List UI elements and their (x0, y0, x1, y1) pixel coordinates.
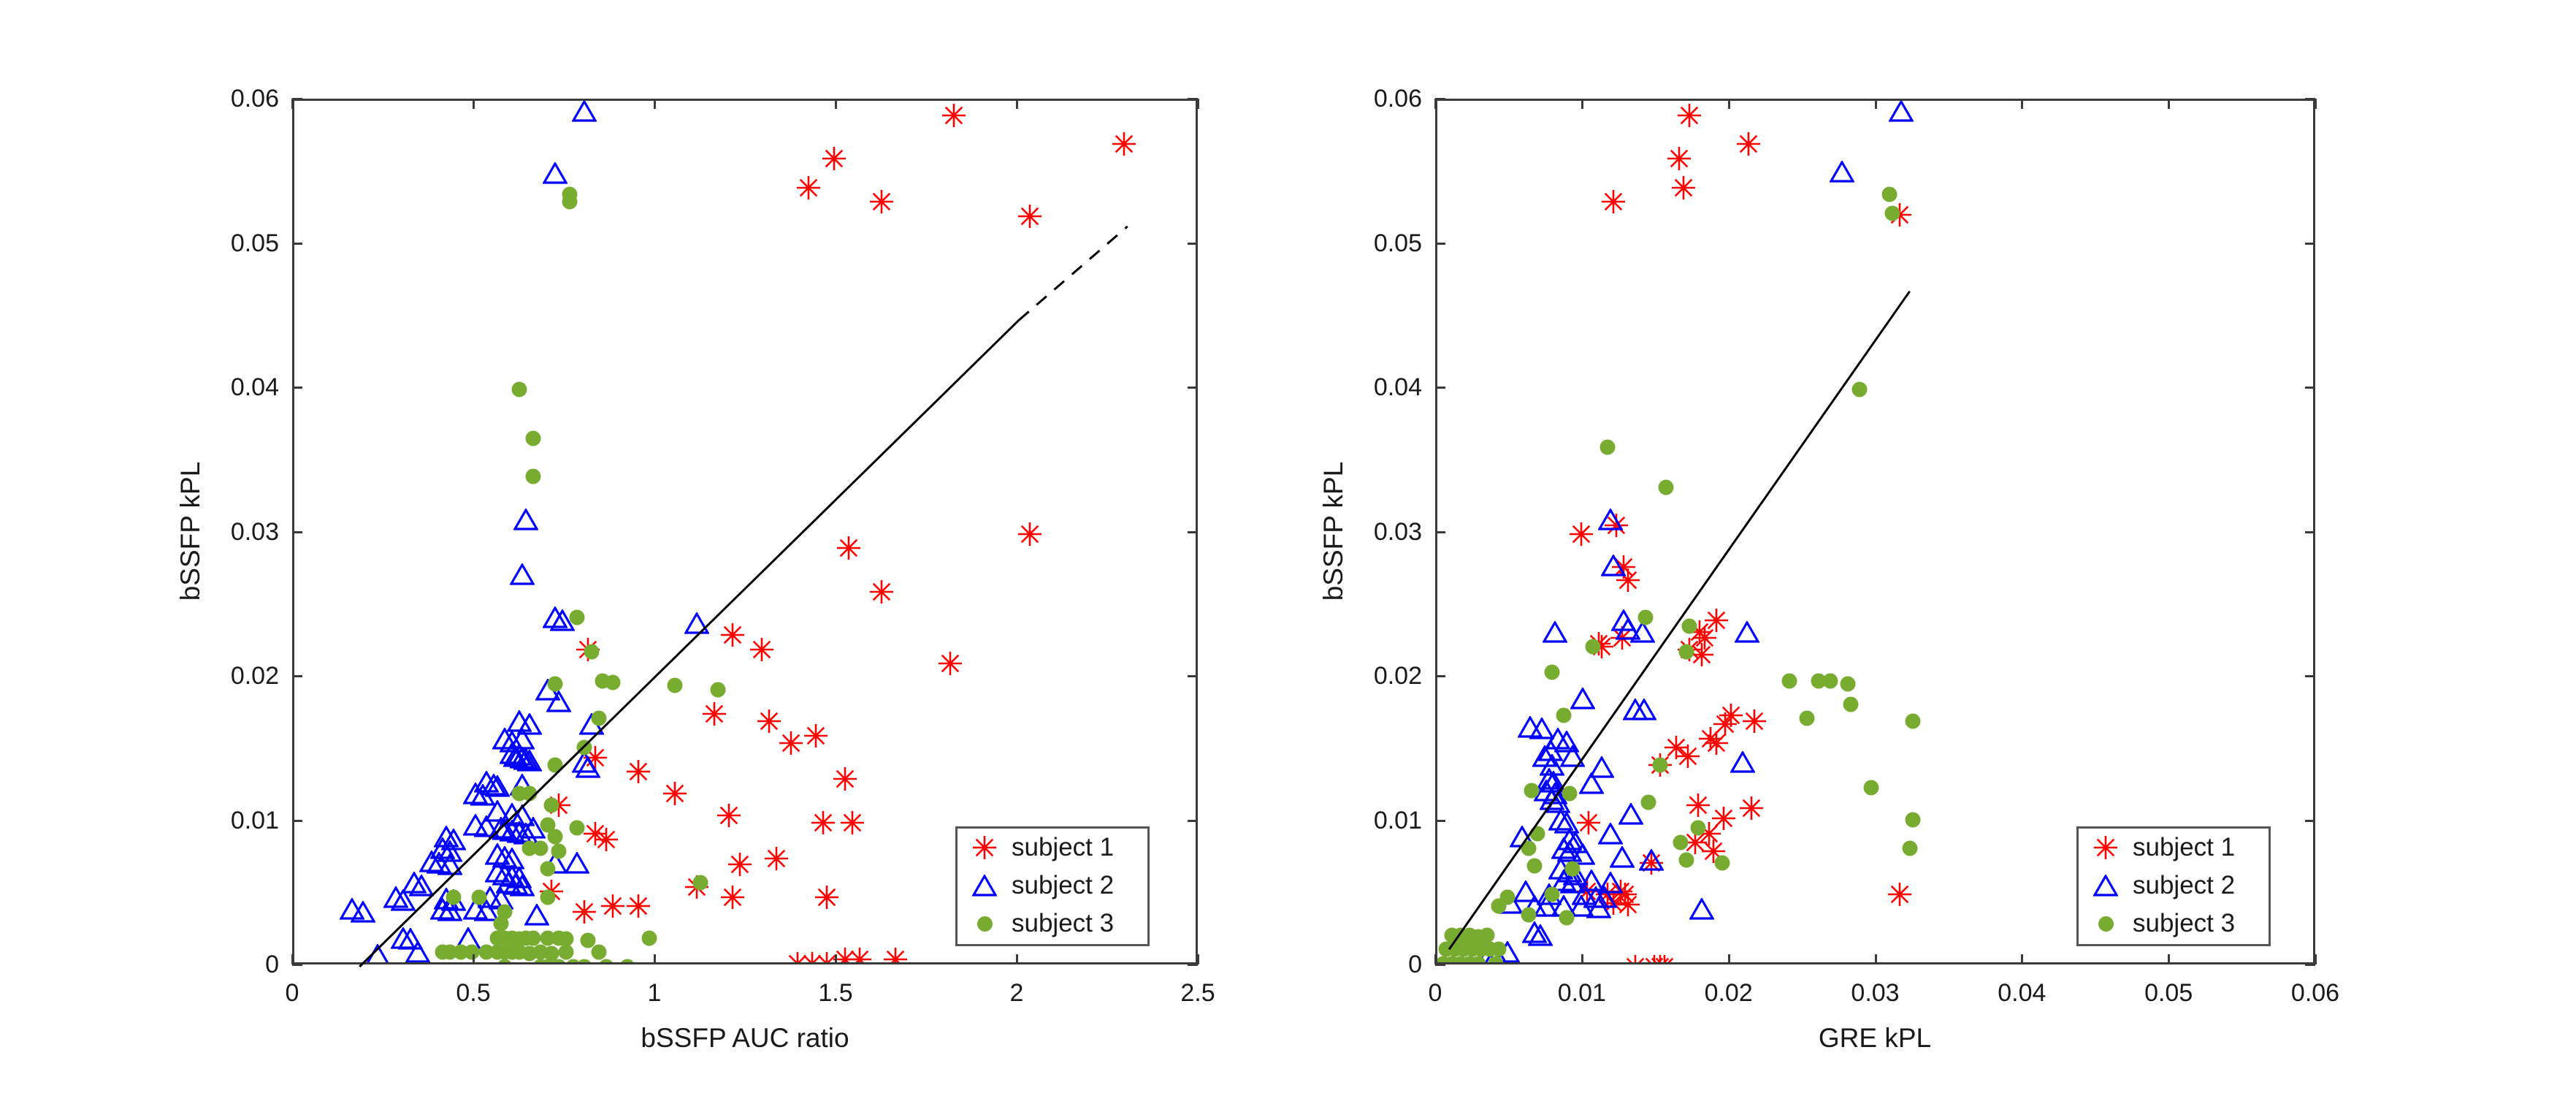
data-point-circle-icon (1691, 821, 1706, 836)
x-tick-top (291, 99, 294, 109)
data-point-triangle-icon (391, 889, 416, 911)
y-tick (292, 964, 302, 966)
y-tick-label: 0 (1326, 952, 1422, 977)
data-point-circle-icon (548, 676, 563, 691)
x-tick (2021, 954, 2023, 964)
legend-label: subject 1 (1012, 833, 1114, 862)
data-point-asterisk-icon (1677, 103, 1702, 128)
data-point-triangle-icon (1598, 823, 1623, 845)
x-tick (1581, 954, 1583, 964)
data-point-circle-icon (551, 844, 567, 859)
data-point-asterisk-icon (662, 781, 687, 806)
data-point-circle-icon (605, 674, 621, 690)
data-point-triangle-icon (524, 904, 549, 926)
data-point-triangle-icon (572, 101, 597, 122)
data-point-triangle-icon (684, 612, 709, 634)
y-tick-right (1188, 675, 1198, 677)
y-tick-label: 0.05 (183, 231, 279, 256)
data-point-asterisk-icon (811, 810, 836, 835)
data-point-circle-icon (526, 930, 541, 945)
data-point-asterisk-icon (833, 766, 857, 791)
data-point-circle-icon (1521, 841, 1536, 856)
legend-item-2[interactable]: subject 2 (958, 867, 1147, 905)
data-point-circle-icon (1852, 382, 1868, 397)
data-point-circle-icon (1491, 899, 1507, 914)
data-point-triangle-icon (1598, 509, 1623, 530)
data-point-asterisk-icon (1616, 892, 1640, 917)
data-point-circle-icon (1905, 812, 1920, 827)
x-tick (291, 954, 294, 964)
data-point-triangle-icon (1632, 699, 1656, 720)
data-point-triangle-icon (405, 941, 430, 962)
x-tick (473, 954, 475, 964)
data-point-asterisk-icon (803, 723, 828, 748)
data-point-circle-icon (1823, 673, 1838, 688)
x-tick-top (1197, 99, 1199, 109)
x-tick (654, 954, 656, 964)
x-tick (2315, 954, 2317, 964)
x-tick-top (1581, 99, 1583, 109)
data-point-circle-icon (1585, 639, 1600, 654)
data-point-circle-icon (493, 916, 508, 931)
data-point-asterisk-icon (1704, 731, 1729, 756)
data-point-circle-icon (540, 890, 556, 905)
data-point-asterisk-icon (716, 803, 741, 828)
data-point-asterisk-icon (764, 846, 789, 871)
x-tick-top (654, 99, 656, 109)
data-point-circle-icon (1480, 927, 1495, 943)
y-tick-label: 0.06 (1326, 86, 1422, 111)
legend-label: subject 1 (2133, 833, 2235, 862)
data-point-asterisk-icon (626, 894, 651, 918)
x-axis-title-right: GRE kPL (1819, 1023, 1931, 1054)
x-tick-label: 2 (1010, 981, 1024, 1005)
data-point-circle-icon (576, 959, 592, 963)
data-point-circle-icon (1638, 610, 1654, 625)
y-tick-label: 0.04 (1326, 375, 1422, 400)
data-point-asterisk-icon (702, 701, 727, 726)
x-tick (2168, 954, 2170, 964)
x-tick-label: 1.5 (818, 981, 852, 1005)
x-tick-top (2021, 99, 2023, 109)
y-tick-right (2305, 964, 2315, 966)
data-point-triangle-icon (1610, 846, 1635, 868)
data-point-triangle-icon (517, 750, 542, 772)
legend-item-3[interactable]: subject 3 (958, 905, 1147, 943)
legend-label: subject 3 (2133, 909, 2235, 938)
x-tick-top (1728, 99, 1730, 109)
x-tick-label: 2.5 (1180, 981, 1215, 1005)
data-point-asterisk-icon (1736, 132, 1761, 156)
x-tick-label: 0.02 (1705, 981, 1753, 1005)
y-tick-right (1188, 820, 1198, 822)
data-point-asterisk-icon (1671, 175, 1696, 200)
data-point-circle-icon (584, 644, 599, 660)
data-point-triangle-icon (1579, 772, 1604, 794)
data-point-triangle-icon (1601, 555, 1626, 576)
y-tick-label: 0 (183, 952, 279, 977)
data-point-asterisk-icon (1601, 189, 1626, 214)
data-point-circle-icon (548, 757, 563, 772)
y-tick-right (1188, 98, 1198, 100)
data-point-triangle-icon (1570, 688, 1595, 709)
data-point-triangle-icon (351, 901, 375, 923)
y-axis-title-right: bSSFP kPL (1318, 462, 1349, 601)
data-point-circle-icon (1641, 794, 1656, 810)
data-point-circle-icon (1562, 786, 1577, 802)
x-tick-label: 0.05 (2144, 981, 2193, 1005)
asterisk-icon (2079, 835, 2133, 860)
data-point-circle-icon (511, 382, 527, 397)
data-point-circle-icon (667, 677, 682, 693)
data-point-circle-icon (544, 797, 559, 813)
x-tick (835, 954, 837, 964)
data-point-circle-icon (533, 841, 549, 856)
x-tick-top (2168, 99, 2170, 109)
data-point-triangle-icon (546, 690, 571, 712)
x-tick (1016, 954, 1018, 964)
data-point-asterisk-icon (1569, 522, 1594, 547)
data-point-circle-icon (711, 682, 726, 697)
data-point-triangle-icon (1889, 101, 1914, 122)
data-point-asterisk-icon (814, 885, 839, 910)
y-tick-right (2305, 675, 2315, 677)
x-tick-label: 0.5 (456, 981, 490, 1005)
data-point-circle-icon (591, 711, 606, 726)
y-tick-label: 0.02 (1326, 663, 1422, 688)
data-point-circle-icon (522, 786, 538, 802)
y-tick-label: 0.01 (1326, 808, 1422, 833)
data-point-circle-icon (1841, 676, 1856, 691)
data-point-triangle-icon (543, 162, 567, 184)
y-tick-label: 0.06 (183, 86, 279, 111)
data-point-circle-icon (1521, 907, 1536, 922)
x-tick (1197, 954, 1199, 964)
data-point-asterisk-icon (594, 827, 619, 852)
data-point-asterisk-icon (1017, 522, 1042, 547)
x-tick (1434, 954, 1437, 964)
y-tick-right (1188, 531, 1198, 533)
y-tick (292, 387, 302, 389)
data-point-triangle-icon (365, 944, 390, 962)
asterisk-icon (958, 835, 1012, 860)
legend-item-3[interactable]: subject 3 (2079, 905, 2269, 943)
data-point-triangle-icon (1639, 849, 1664, 871)
y-tick (1435, 531, 1445, 533)
data-point-circle-icon (1864, 780, 1879, 796)
x-tick-label: 1 (648, 981, 662, 1005)
data-point-circle-icon (1544, 665, 1559, 680)
legend-item-1[interactable]: subject 1 (958, 829, 1147, 867)
data-point-circle-icon (1714, 855, 1730, 870)
data-point-asterisk-icon (727, 852, 752, 877)
data-point-circle-icon (591, 945, 606, 960)
legend-item-1[interactable]: subject 1 (2079, 829, 2269, 867)
data-point-circle-icon (569, 821, 584, 836)
data-point-circle-icon (1673, 835, 1689, 850)
data-point-triangle-icon (1528, 924, 1553, 946)
x-tick-label: 0.03 (1851, 981, 1899, 1005)
data-point-circle-icon (692, 875, 708, 891)
data-point-triangle-icon (513, 509, 538, 530)
data-point-circle-icon (1526, 858, 1542, 873)
data-point-asterisk-icon (941, 103, 966, 128)
data-point-circle-icon (1653, 757, 1668, 772)
y-tick-right (2305, 531, 2315, 533)
data-point-asterisk-icon (938, 651, 963, 676)
figure-canvas: 00.511.522.5 00.010.020.030.040.050.06 b… (0, 0, 2576, 1096)
data-point-circle-icon (1600, 440, 1615, 455)
x-tick-label: 0 (1429, 981, 1442, 1005)
y-tick-right (2305, 820, 2315, 822)
y-tick-label: 0.05 (1326, 231, 1422, 256)
data-point-circle-icon (1491, 942, 1507, 957)
x-tick-top (1434, 99, 1437, 109)
data-point-asterisk-icon (836, 536, 861, 560)
data-point-asterisk-icon (796, 175, 821, 200)
y-tick-right (2305, 387, 2315, 389)
data-point-triangle-icon (1730, 751, 1755, 773)
data-point-circle-icon (471, 890, 486, 905)
data-point-circle-icon (1679, 852, 1694, 867)
y-tick (292, 531, 302, 533)
legend-label: subject 2 (2133, 871, 2235, 900)
data-point-circle-icon (562, 194, 577, 210)
data-point-circle-icon (1559, 910, 1574, 925)
y-tick (292, 98, 302, 100)
circle-icon (958, 916, 1012, 932)
triangle-icon (958, 875, 1012, 897)
data-point-asterisk-icon (883, 947, 908, 962)
data-point-circle-icon (1564, 861, 1580, 876)
data-point-triangle-icon (1830, 161, 1854, 183)
data-point-asterisk-icon (1739, 796, 1764, 821)
x-axis-title-left: bSSFP AUC ratio (641, 1023, 849, 1054)
y-tick (1435, 243, 1445, 245)
data-point-asterisk-icon (1667, 146, 1692, 171)
x-tick-top (1875, 99, 1877, 109)
data-point-circle-icon (1800, 711, 1815, 726)
x-tick-label: 0.01 (1558, 981, 1606, 1005)
scatter-plot-left: 00.511.522.5 00.010.020.030.040.050.06 b… (0, 0, 1285, 1096)
y-tick-label: 0.01 (183, 808, 279, 833)
data-point-circle-icon (1679, 644, 1694, 660)
data-point-asterisk-icon (600, 894, 625, 918)
data-point-circle-icon (1884, 206, 1900, 221)
x-tick-label: 0.04 (1998, 981, 2046, 1005)
data-point-circle-icon (1524, 783, 1539, 799)
y-tick-right (1188, 243, 1198, 245)
data-point-asterisk-icon (572, 899, 597, 924)
data-point-circle-icon (1905, 714, 1920, 729)
data-point-asterisk-icon (1112, 132, 1136, 156)
data-point-asterisk-icon (869, 579, 894, 604)
x-tick-label: 0.06 (2291, 981, 2339, 1005)
x-tick-top (473, 99, 475, 109)
y-tick (1435, 820, 1445, 822)
y-tick-label: 0.04 (183, 375, 279, 400)
legend-item-2[interactable]: subject 2 (2079, 867, 2269, 905)
data-point-asterisk-icon (720, 623, 745, 647)
data-point-circle-icon (526, 431, 541, 446)
data-point-circle-icon (1843, 696, 1859, 712)
data-point-asterisk-icon (720, 885, 745, 910)
data-point-circle-icon (569, 610, 584, 625)
data-point-asterisk-icon (1017, 204, 1042, 229)
data-point-asterisk-icon (779, 731, 803, 756)
data-point-asterisk-icon (1686, 793, 1711, 818)
data-point-asterisk-icon (847, 947, 872, 962)
data-point-asterisk-icon (869, 189, 894, 214)
data-point-triangle-icon (510, 875, 535, 897)
data-point-asterisk-icon (1742, 709, 1767, 734)
data-point-asterisk-icon (749, 637, 774, 662)
data-point-triangle-icon (1689, 898, 1714, 920)
legend-label: subject 2 (1012, 871, 1114, 900)
data-point-triangle-icon (510, 563, 535, 585)
data-point-circle-icon (540, 861, 556, 876)
data-point-circle-icon (1902, 841, 1917, 856)
circle-icon (2079, 916, 2133, 932)
y-tick (1435, 98, 1445, 100)
data-point-circle-icon (1529, 826, 1545, 842)
scatter-plot-right: 00.010.020.030.040.050.06 00.010.020.030… (1291, 0, 2576, 1096)
x-tick-top (2315, 99, 2317, 109)
y-tick-label: 0.02 (183, 663, 279, 688)
y-axis-title-left: bSSFP kPL (175, 462, 206, 601)
y-tick-right (1188, 964, 1198, 966)
triangle-icon (2079, 875, 2133, 897)
legend-right: subject 1subject 2subject 3 (2076, 826, 2271, 946)
data-point-circle-icon (446, 890, 462, 905)
data-point-circle-icon (1556, 708, 1571, 723)
data-point-triangle-icon (1735, 621, 1759, 643)
data-point-circle-icon (526, 468, 541, 484)
y-tick (1435, 964, 1445, 966)
data-point-circle-icon (576, 739, 592, 755)
y-tick (292, 820, 302, 822)
data-point-triangle-icon (565, 852, 589, 874)
data-point-circle-icon (1682, 618, 1697, 633)
data-point-circle-icon (559, 945, 574, 960)
data-point-asterisk-icon (1675, 744, 1700, 769)
x-tick (1875, 954, 1877, 964)
data-point-asterisk-icon (822, 146, 846, 171)
data-point-asterisk-icon (1652, 954, 1677, 962)
data-point-triangle-icon (437, 853, 462, 875)
legend-label: subject 3 (1012, 909, 1114, 938)
legend-left: subject 1subject 2subject 3 (955, 826, 1150, 946)
x-tick (1728, 954, 1730, 964)
data-point-asterisk-icon (626, 759, 651, 784)
data-point-circle-icon (1659, 480, 1674, 495)
y-tick (1435, 387, 1445, 389)
data-point-circle-icon (642, 930, 657, 945)
y-tick-right (2305, 243, 2315, 245)
data-point-circle-icon (1544, 887, 1559, 902)
x-tick-label: 0 (286, 981, 299, 1005)
data-point-triangle-icon (1543, 621, 1567, 643)
y-tick-right (2305, 98, 2315, 100)
x-tick-top (1016, 99, 1018, 109)
data-point-triangle-icon (1586, 897, 1611, 918)
data-point-circle-icon (1881, 187, 1897, 202)
data-point-circle-icon (548, 829, 563, 845)
data-point-triangle-icon (576, 756, 600, 778)
data-point-circle-icon (620, 959, 635, 963)
data-point-circle-icon (1782, 673, 1797, 688)
x-tick-top (835, 99, 837, 109)
data-point-asterisk-icon (1887, 882, 1912, 907)
y-tick (292, 243, 302, 245)
data-point-asterisk-icon (840, 810, 865, 835)
y-tick (292, 675, 302, 677)
y-tick (1435, 675, 1445, 677)
data-point-triangle-icon (1618, 803, 1643, 825)
y-tick-right (1188, 387, 1198, 389)
